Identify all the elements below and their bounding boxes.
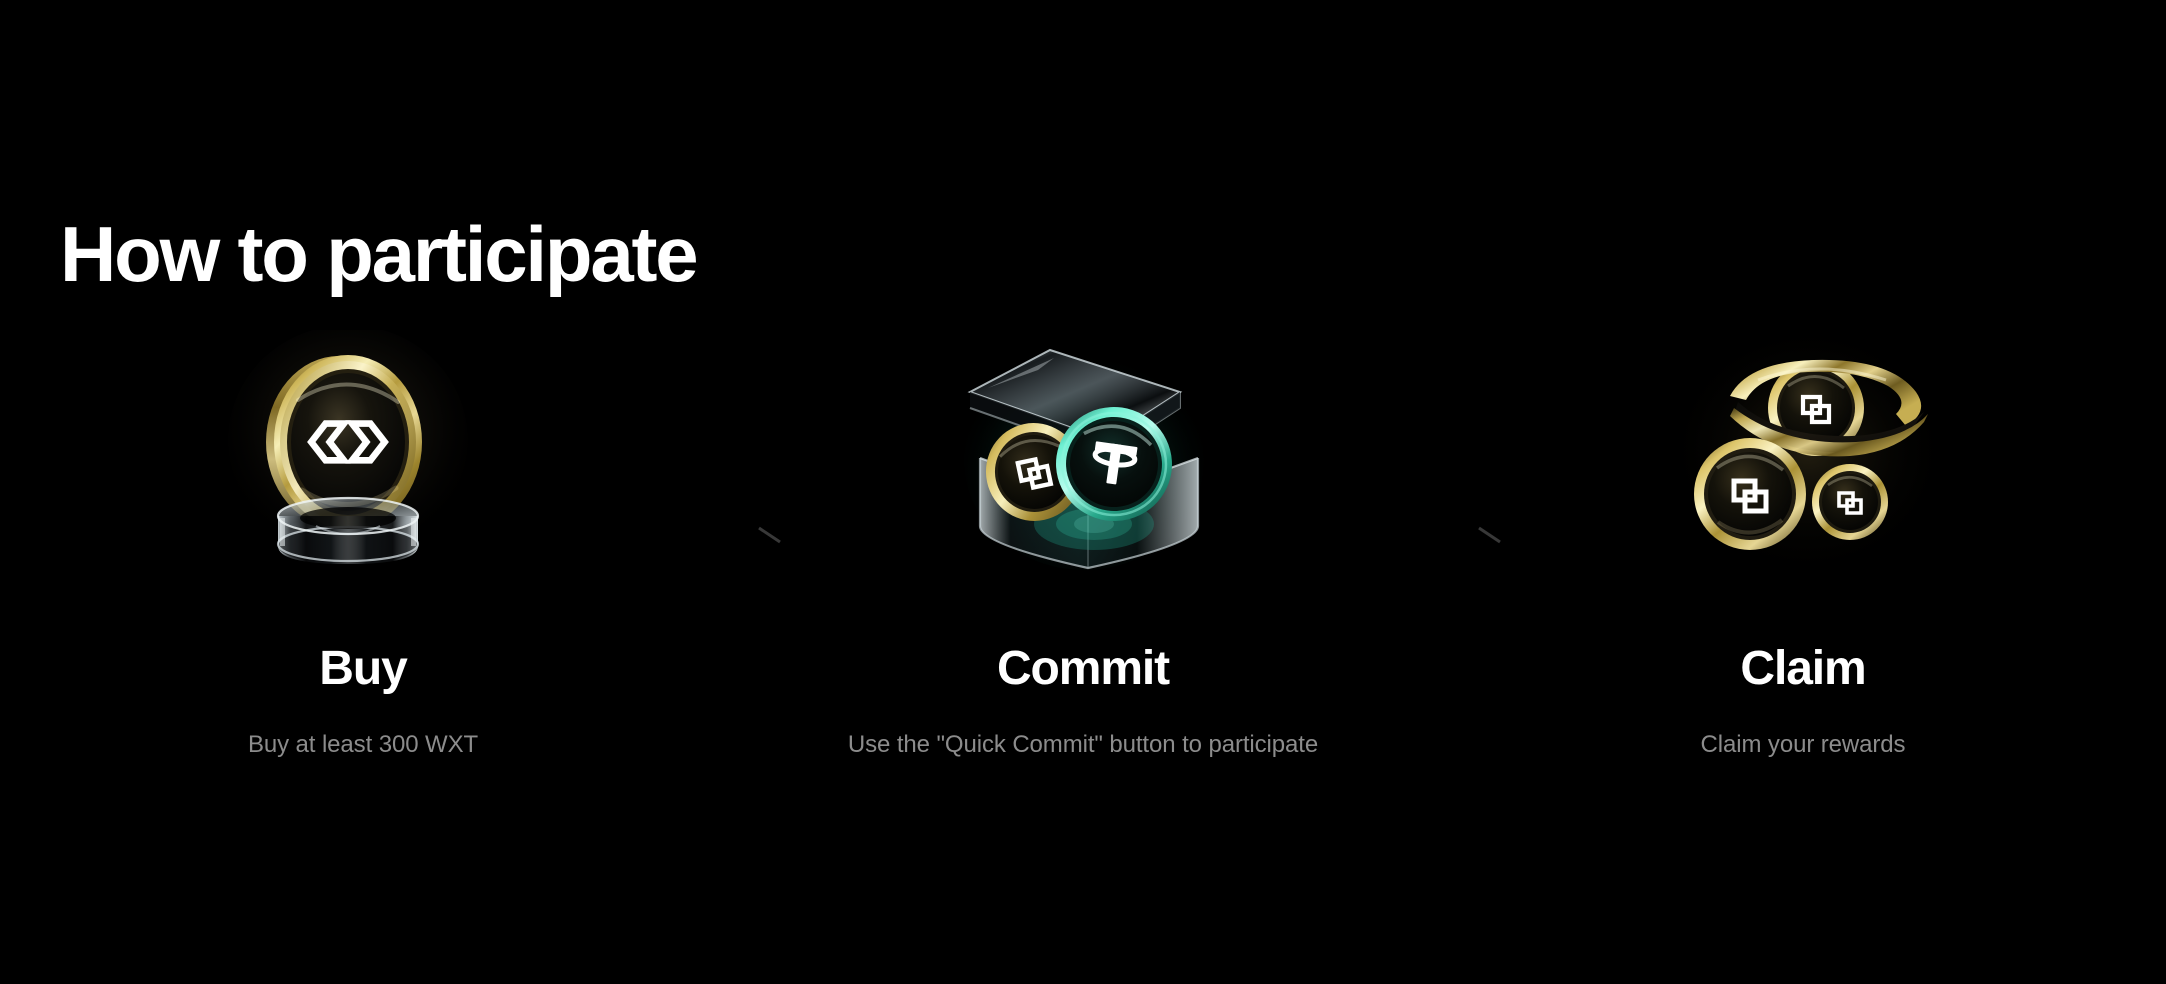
- arrow-right-icon: [1383, 526, 1503, 552]
- step-buy: Buy Buy at least 300 WXT: [63, 330, 663, 760]
- arrow-right-icon: [663, 526, 783, 552]
- open-glass-box-with-coins-icon: [918, 330, 1248, 590]
- step-title: Buy: [319, 645, 406, 693]
- gold-coins-with-ring-icon: [1638, 330, 1968, 590]
- step-claim: Claim Claim your rewards: [1503, 330, 2103, 760]
- step-description: Use the "Quick Commit" button to partici…: [848, 731, 1318, 760]
- step-description: Buy at least 300 WXT: [248, 731, 478, 760]
- steps-row: Buy Buy at least 300 WXT: [0, 330, 2166, 890]
- page-title: How to participate: [60, 215, 696, 293]
- step-commit: Commit Use the "Quick Commit" button to …: [783, 330, 1383, 760]
- step-title: Commit: [997, 645, 1169, 693]
- how-to-participate-section: How to participate: [0, 0, 2166, 984]
- gold-coin-on-pedestal-icon: [198, 330, 528, 590]
- step-connector-1: [663, 526, 783, 552]
- step-title: Claim: [1740, 645, 1865, 693]
- step-description: Claim your rewards: [1701, 731, 1906, 760]
- step-connector-2: [1383, 526, 1503, 552]
